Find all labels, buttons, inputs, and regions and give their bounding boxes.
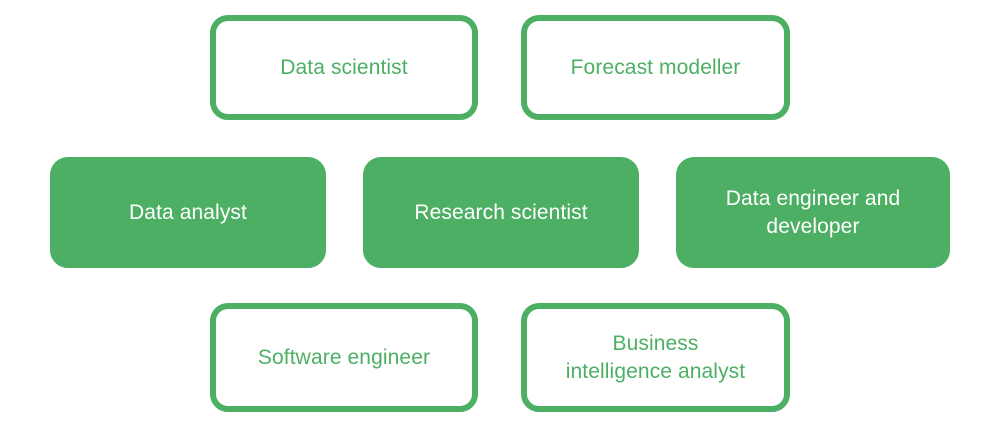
- node-data-analyst[interactable]: Data analyst: [50, 157, 326, 268]
- node-label: Research scientist: [414, 199, 587, 226]
- node-forecast-modeller[interactable]: Forecast modeller: [521, 15, 790, 120]
- node-software-engineer[interactable]: Software engineer: [210, 303, 478, 412]
- node-label: Data engineer and developer: [726, 185, 901, 240]
- diagram-canvas: Data scientist Forecast modeller Data an…: [0, 0, 1000, 425]
- node-data-engineer-and-developer[interactable]: Data engineer and developer: [676, 157, 950, 268]
- node-label: Software engineer: [258, 344, 430, 371]
- node-label: Forecast modeller: [571, 54, 741, 81]
- node-label: Data scientist: [280, 54, 407, 81]
- node-label: Business intelligence analyst: [566, 330, 745, 385]
- node-data-scientist[interactable]: Data scientist: [210, 15, 478, 120]
- node-research-scientist[interactable]: Research scientist: [363, 157, 639, 268]
- node-label: Data analyst: [129, 199, 247, 226]
- node-business-intelligence-analyst[interactable]: Business intelligence analyst: [521, 303, 790, 412]
